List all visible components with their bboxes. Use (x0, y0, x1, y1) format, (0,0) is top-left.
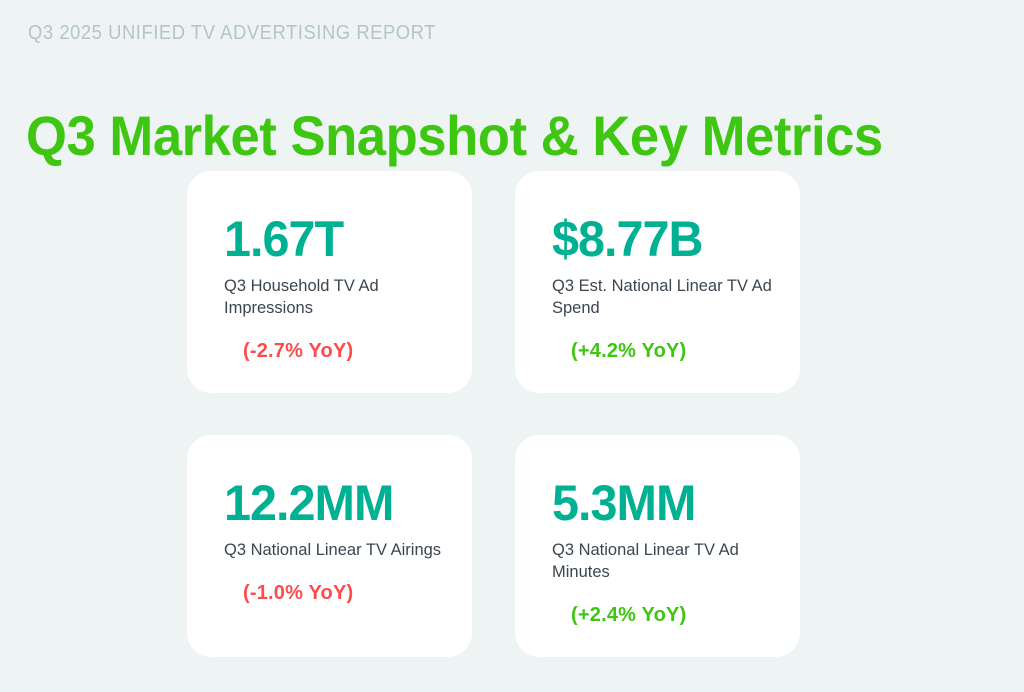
metric-label: Q3 Household TV Ad Impressions (224, 275, 446, 319)
metric-label: Q3 Est. National Linear TV Ad Spend (552, 275, 774, 319)
metric-delta-badge: (+4.2% YoY) (571, 339, 774, 363)
report-slide: Q3 2025 UNIFIED TV ADVERTISING REPORT Q3… (0, 0, 1024, 692)
metric-card: 5.3MM Q3 National Linear TV Ad Minutes (… (515, 435, 800, 657)
metric-card: 1.67T Q3 Household TV Ad Impressions (-2… (187, 171, 472, 393)
page-title: Q3 Market Snapshot & Key Metrics (26, 104, 883, 168)
metric-delta-badge: (-2.7% YoY) (243, 339, 446, 363)
metric-value: $8.77B (552, 213, 767, 265)
metric-label: Q3 National Linear TV Airings (224, 539, 446, 561)
metric-value: 1.67T (224, 213, 439, 265)
metric-value: 5.3MM (552, 477, 767, 529)
metric-delta-badge: (-1.0% YoY) (243, 581, 446, 605)
metric-card-grid: 1.67T Q3 Household TV Ad Impressions (-2… (187, 171, 800, 657)
metric-card: $8.77B Q3 Est. National Linear TV Ad Spe… (515, 171, 800, 393)
metric-value: 12.2MM (224, 477, 439, 529)
report-eyebrow: Q3 2025 UNIFIED TV ADVERTISING REPORT (28, 20, 436, 46)
metric-label: Q3 National Linear TV Ad Minutes (552, 539, 774, 583)
metric-delta-badge: (+2.4% YoY) (571, 603, 774, 627)
metric-card: 12.2MM Q3 National Linear TV Airings (-1… (187, 435, 472, 657)
